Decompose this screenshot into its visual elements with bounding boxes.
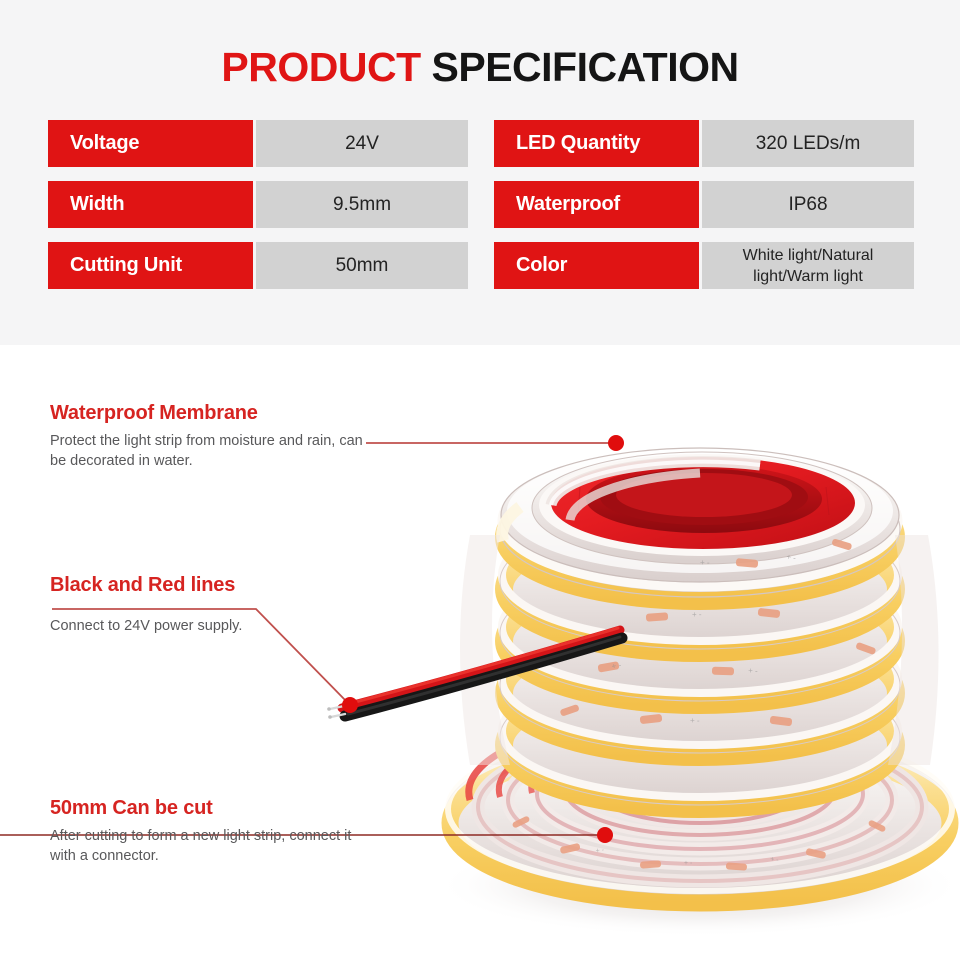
spec-label-width: Width [48, 181, 253, 228]
spec-value-waterproof: IP68 [702, 181, 914, 228]
specification-panel: PRODUCT SPECIFICATION Voltage 24V Width … [0, 0, 960, 345]
spec-value-voltage: 24V [256, 120, 468, 167]
callout-black-and-red-lines: Black and Red lines Connect to 24V power… [50, 572, 380, 636]
spec-label-led-quantity: LED Quantity [494, 120, 699, 167]
callout-body-black-and-red-lines: Connect to 24V power supply. [50, 616, 250, 636]
reel-coil-stack: + - + - + - + - + - + - [460, 448, 939, 809]
title-red-word: PRODUCT [221, 44, 420, 90]
svg-text:+ -: + - [684, 860, 693, 867]
spec-label-cutting-unit: Cutting Unit [48, 242, 253, 289]
spec-label-voltage: Voltage [48, 120, 253, 167]
spec-row-led-quantity: LED Quantity 320 LEDs/m [494, 120, 914, 167]
spec-column-left: Voltage 24V Width 9.5mm Cutting Unit 50m… [48, 120, 468, 289]
page-title: PRODUCT SPECIFICATION [0, 42, 960, 92]
svg-text:+ -: + - [611, 661, 622, 671]
spec-row-cutting-unit: Cutting Unit 50mm [48, 242, 468, 289]
callout-title-black-and-red-lines: Black and Red lines [50, 572, 380, 598]
spec-value-color: White light/Natural light/Warm light [702, 242, 914, 289]
spec-row-voltage: Voltage 24V [48, 120, 468, 167]
callout-waterproof-membrane: Waterproof Membrane Protect the light st… [50, 400, 380, 471]
spec-row-waterproof: Waterproof IP68 [494, 181, 914, 228]
spec-label-waterproof: Waterproof [494, 181, 699, 228]
callout-body-can-be-cut: After cutting to form a new light strip,… [50, 826, 380, 866]
spec-row-color: Color White light/Natural light/Warm lig… [494, 242, 914, 289]
spec-value-led-quantity: 320 LEDs/m [702, 120, 914, 167]
callout-title-can-be-cut: 50mm Can be cut [50, 795, 380, 821]
spec-column-right: LED Quantity 320 LEDs/m Waterproof IP68 … [494, 120, 914, 289]
spec-row-width: Width 9.5mm [48, 181, 468, 228]
callout-body-waterproof-membrane: Protect the light strip from moisture an… [50, 431, 380, 471]
svg-text:+ -: + - [748, 666, 758, 676]
svg-text:+ -: + - [692, 610, 702, 619]
specification-table: Voltage 24V Width 9.5mm Cutting Unit 50m… [48, 120, 914, 289]
spec-value-cutting-unit: 50mm [256, 242, 468, 289]
svg-text:+ -: + - [700, 558, 710, 567]
callout-title-waterproof-membrane: Waterproof Membrane [50, 400, 380, 426]
svg-text:+ -: + - [690, 716, 700, 725]
svg-text:+ -: + - [770, 856, 780, 864]
spec-label-color: Color [494, 242, 699, 289]
title-black-word: SPECIFICATION [432, 44, 739, 90]
product-specification-page: PRODUCT SPECIFICATION Voltage 24V Width … [0, 0, 960, 960]
spec-value-width: 9.5mm [256, 181, 468, 228]
callout-can-be-cut: 50mm Can be cut After cutting to form a … [50, 795, 380, 866]
